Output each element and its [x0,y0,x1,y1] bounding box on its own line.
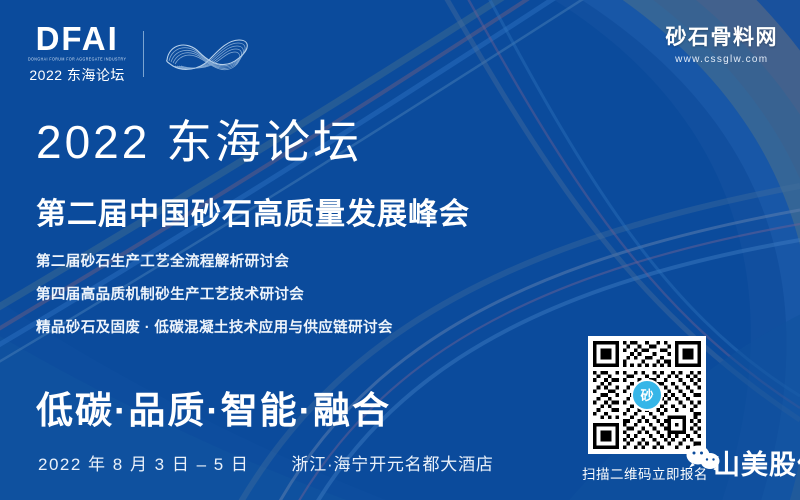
headline-block: 2022 东海论坛 第二届中国砂石高质量发展峰会 第二届砂石生产工艺全流程解析研… [36,118,470,349]
event-date: 2022 年 8 月 3 日 – 5 日 [38,450,249,475]
sand-logo-icon: 砂 [631,379,663,411]
event-venue: 浙江·海宁开元名都大酒店 [291,450,493,475]
brand-lockup: DFAI DONGHAI FORUM FOR AGGREGATE INDUSTR… [28,22,259,85]
session-item: 第二届砂石生产工艺全流程解析研讨会 [36,250,470,271]
brand-text-group: DFAI DONGHAI FORUM FOR AGGREGATE INDUSTR… [28,22,126,85]
brand-year-line: 2022 东海论坛 [29,65,125,85]
headline-subtitle: 第二届中国砂石高质量发展峰会 [36,189,470,233]
site-logo: 砂石骨料网 www.cssglw.com [666,26,779,65]
brand-acronym-subtitle: DONGHAI FORUM FOR AGGREGATE INDUSTRY [28,57,126,62]
session-item: 第四届高品质机制砂生产工艺技术研讨会 [36,283,470,304]
session-item: 精品砂石及固废 · 低碳混凝土技术应用与供应链研讨会 [36,316,470,337]
brand-divider [143,31,144,77]
page-title: 2022 东海论坛 [36,118,470,166]
footer-info: 2022 年 8 月 3 日 – 5 日 浙江·海宁开元名都大酒店 [38,450,494,475]
brand-acronym: DFAI [36,22,119,55]
session-list: 第二届砂石生产工艺全流程解析研讨会 第四届高品质机制砂生产工艺技术研讨会 精品砂… [36,250,470,337]
infinity-ribbon-icon [159,30,259,78]
qr-code-frame[interactable]: 砂 [588,336,706,454]
site-logo-url: www.cssglw.com [666,54,779,65]
site-logo-name: 砂石骨料网 [666,26,779,49]
sponsor-name: 山美股份 [713,443,800,482]
sponsor-block: 山美股份 [690,443,800,482]
poster-canvas: DFAI DONGHAI FORUM FOR AGGREGATE INDUSTR… [0,0,800,500]
slogan-text: 低碳·品质·智能·融合 [36,380,391,434]
